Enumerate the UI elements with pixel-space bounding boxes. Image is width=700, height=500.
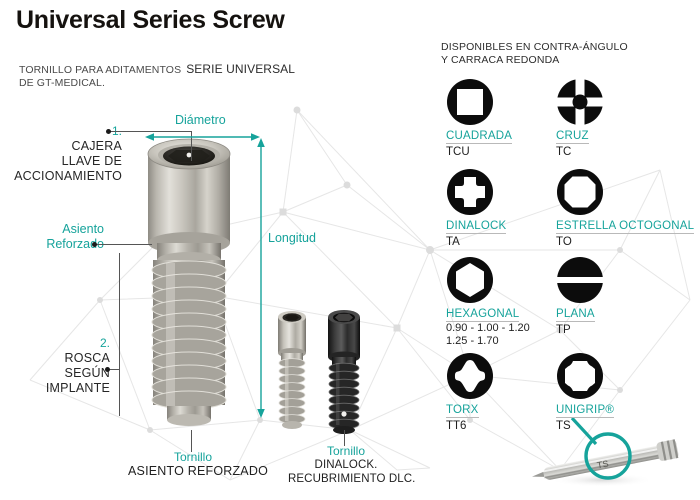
callout-3-bracket (119, 253, 120, 416)
intro-line1-a: TORNILLO PARA ADITAMENTOS (19, 64, 181, 76)
driver-highlight-leader (572, 418, 596, 444)
callout-1-line3: ACCIONAMIENTO (12, 169, 122, 184)
caption-1-dark: ASIENTO REFORZADO (128, 464, 258, 478)
callout-1-dot (106, 129, 111, 134)
intro-caption: TORNILLO PARA ADITAMENTOSSERIE UNIVERSAL… (19, 63, 295, 90)
bottom-caption-dinalock: Tornillo DINALOCK. RECUBRIMIENTO DLC. (288, 444, 404, 486)
callout-1-line1: CAJERA (12, 139, 122, 154)
diameter-arrow (145, 130, 260, 144)
torx-drive-icon (446, 352, 494, 400)
main-screw-illustration (120, 125, 265, 435)
intro-line2: DE GT-MEDICAL. (19, 77, 295, 90)
small-screw-dinalock-black (318, 303, 370, 435)
callout-3-dot (105, 367, 110, 372)
drive-cell-cruz[interactable]: CRUZ TC (556, 78, 604, 158)
callout-2-leader (96, 244, 152, 245)
drive-name-cuadrada: CUADRADA (446, 130, 512, 144)
length-arrow (254, 138, 268, 418)
drive-code-torx: TT6 (446, 420, 494, 432)
screwdriver-tool: TS (530, 418, 700, 498)
bottom-caption-asiento-reforzado: Tornillo ASIENTO REFORZADO (128, 450, 258, 478)
callout-3-line1: ROSCA (12, 351, 110, 366)
callout-3-leader (109, 369, 119, 370)
drive-cell-torx[interactable]: TORX TT6 (446, 352, 494, 432)
drive-code-plana: TP (556, 324, 604, 336)
callout-rosca: 2. ROSCA SEGÚN IMPLANTE (12, 336, 110, 396)
slot-drive-icon (556, 256, 604, 304)
callout-1-line2: LLAVE DE (12, 154, 122, 169)
caption-2-teal: Tornillo (288, 444, 404, 458)
right-header-line1: DISPONIBLES EN CONTRA-ÁNGULO (441, 41, 628, 54)
square-drive-icon (446, 78, 494, 126)
drive-name-dinalock: DINALOCK (446, 220, 506, 234)
drive-name-cruz: CRUZ (556, 130, 589, 144)
right-panel-header: DISPONIBLES EN CONTRA-ÁNGULO Y CARRACA R… (441, 41, 628, 66)
drive-code-cruz: TC (556, 146, 604, 158)
octagon-drive-icon (556, 168, 604, 216)
drive-name-hexagonal: HEXAGONAL (446, 308, 519, 322)
caption-2-dark-2: RECUBRIMIENTO DLC. (288, 472, 404, 486)
callout-2-line2: Reforzado (12, 237, 104, 252)
caption-2-dark-1: DINALOCK. (288, 458, 404, 472)
callout-asiento: Asiento Reforzado (12, 222, 104, 252)
drive-name-estrella-octogonal: ESTRELLA OCTOGONAL (556, 220, 694, 234)
driver-marking: TS (596, 458, 609, 470)
drive-cell-plana[interactable]: PLANA TP (556, 256, 604, 336)
small-screw-silver (268, 305, 316, 433)
caption-1-leader (191, 430, 192, 452)
drive-name-unigrip: UNIGRIP® (556, 404, 614, 418)
length-label: Longitud (268, 231, 316, 245)
drive-code-cuadrada: TCU (446, 146, 512, 158)
drive-cell-cuadrada[interactable]: CUADRADA TCU (446, 78, 512, 158)
callout-3-line2: SEGÚN (12, 366, 110, 381)
drive-code-estrella-octogonal: TO (556, 236, 694, 248)
drive-cell-dinalock[interactable]: DINALOCK TA (446, 168, 506, 248)
callout-3-number: 2. (12, 336, 110, 351)
drive-code-hexagonal-2: 1.25 - 1.70 (446, 335, 530, 348)
intro-line1-b: SERIE UNIVERSAL (186, 62, 295, 76)
drive-code-hexagonal-1: 0.90 - 1.00 - 1.20 (446, 322, 530, 335)
page-title: Universal Series Screw (16, 6, 285, 35)
infographic-stage: Universal Series Screw TORNILLO PARA ADI… (0, 0, 700, 500)
drive-cell-hexagonal[interactable]: HEXAGONAL 0.90 - 1.00 - 1.20 1.25 - 1.70 (446, 256, 530, 347)
dinalock-drive-icon (446, 168, 494, 216)
drive-name-torx: TORX (446, 404, 479, 418)
callout-2-line1: Asiento (12, 222, 104, 237)
cross-drive-icon (556, 78, 604, 126)
hexagon-drive-icon (446, 256, 494, 304)
right-header-line2: Y CARRACA REDONDA (441, 54, 628, 67)
caption-1-teal: Tornillo (128, 450, 258, 464)
drive-code-dinalock: TA (446, 236, 506, 248)
drive-cell-estrella-octogonal[interactable]: ESTRELLA OCTOGONAL TO (556, 168, 694, 248)
drive-name-plana: PLANA (556, 308, 595, 322)
callout-3-line3: IMPLANTE (12, 381, 110, 396)
unigrip-drive-icon (556, 352, 604, 400)
callout-2-dot (92, 242, 97, 247)
diameter-label: Diámetro (175, 113, 226, 127)
